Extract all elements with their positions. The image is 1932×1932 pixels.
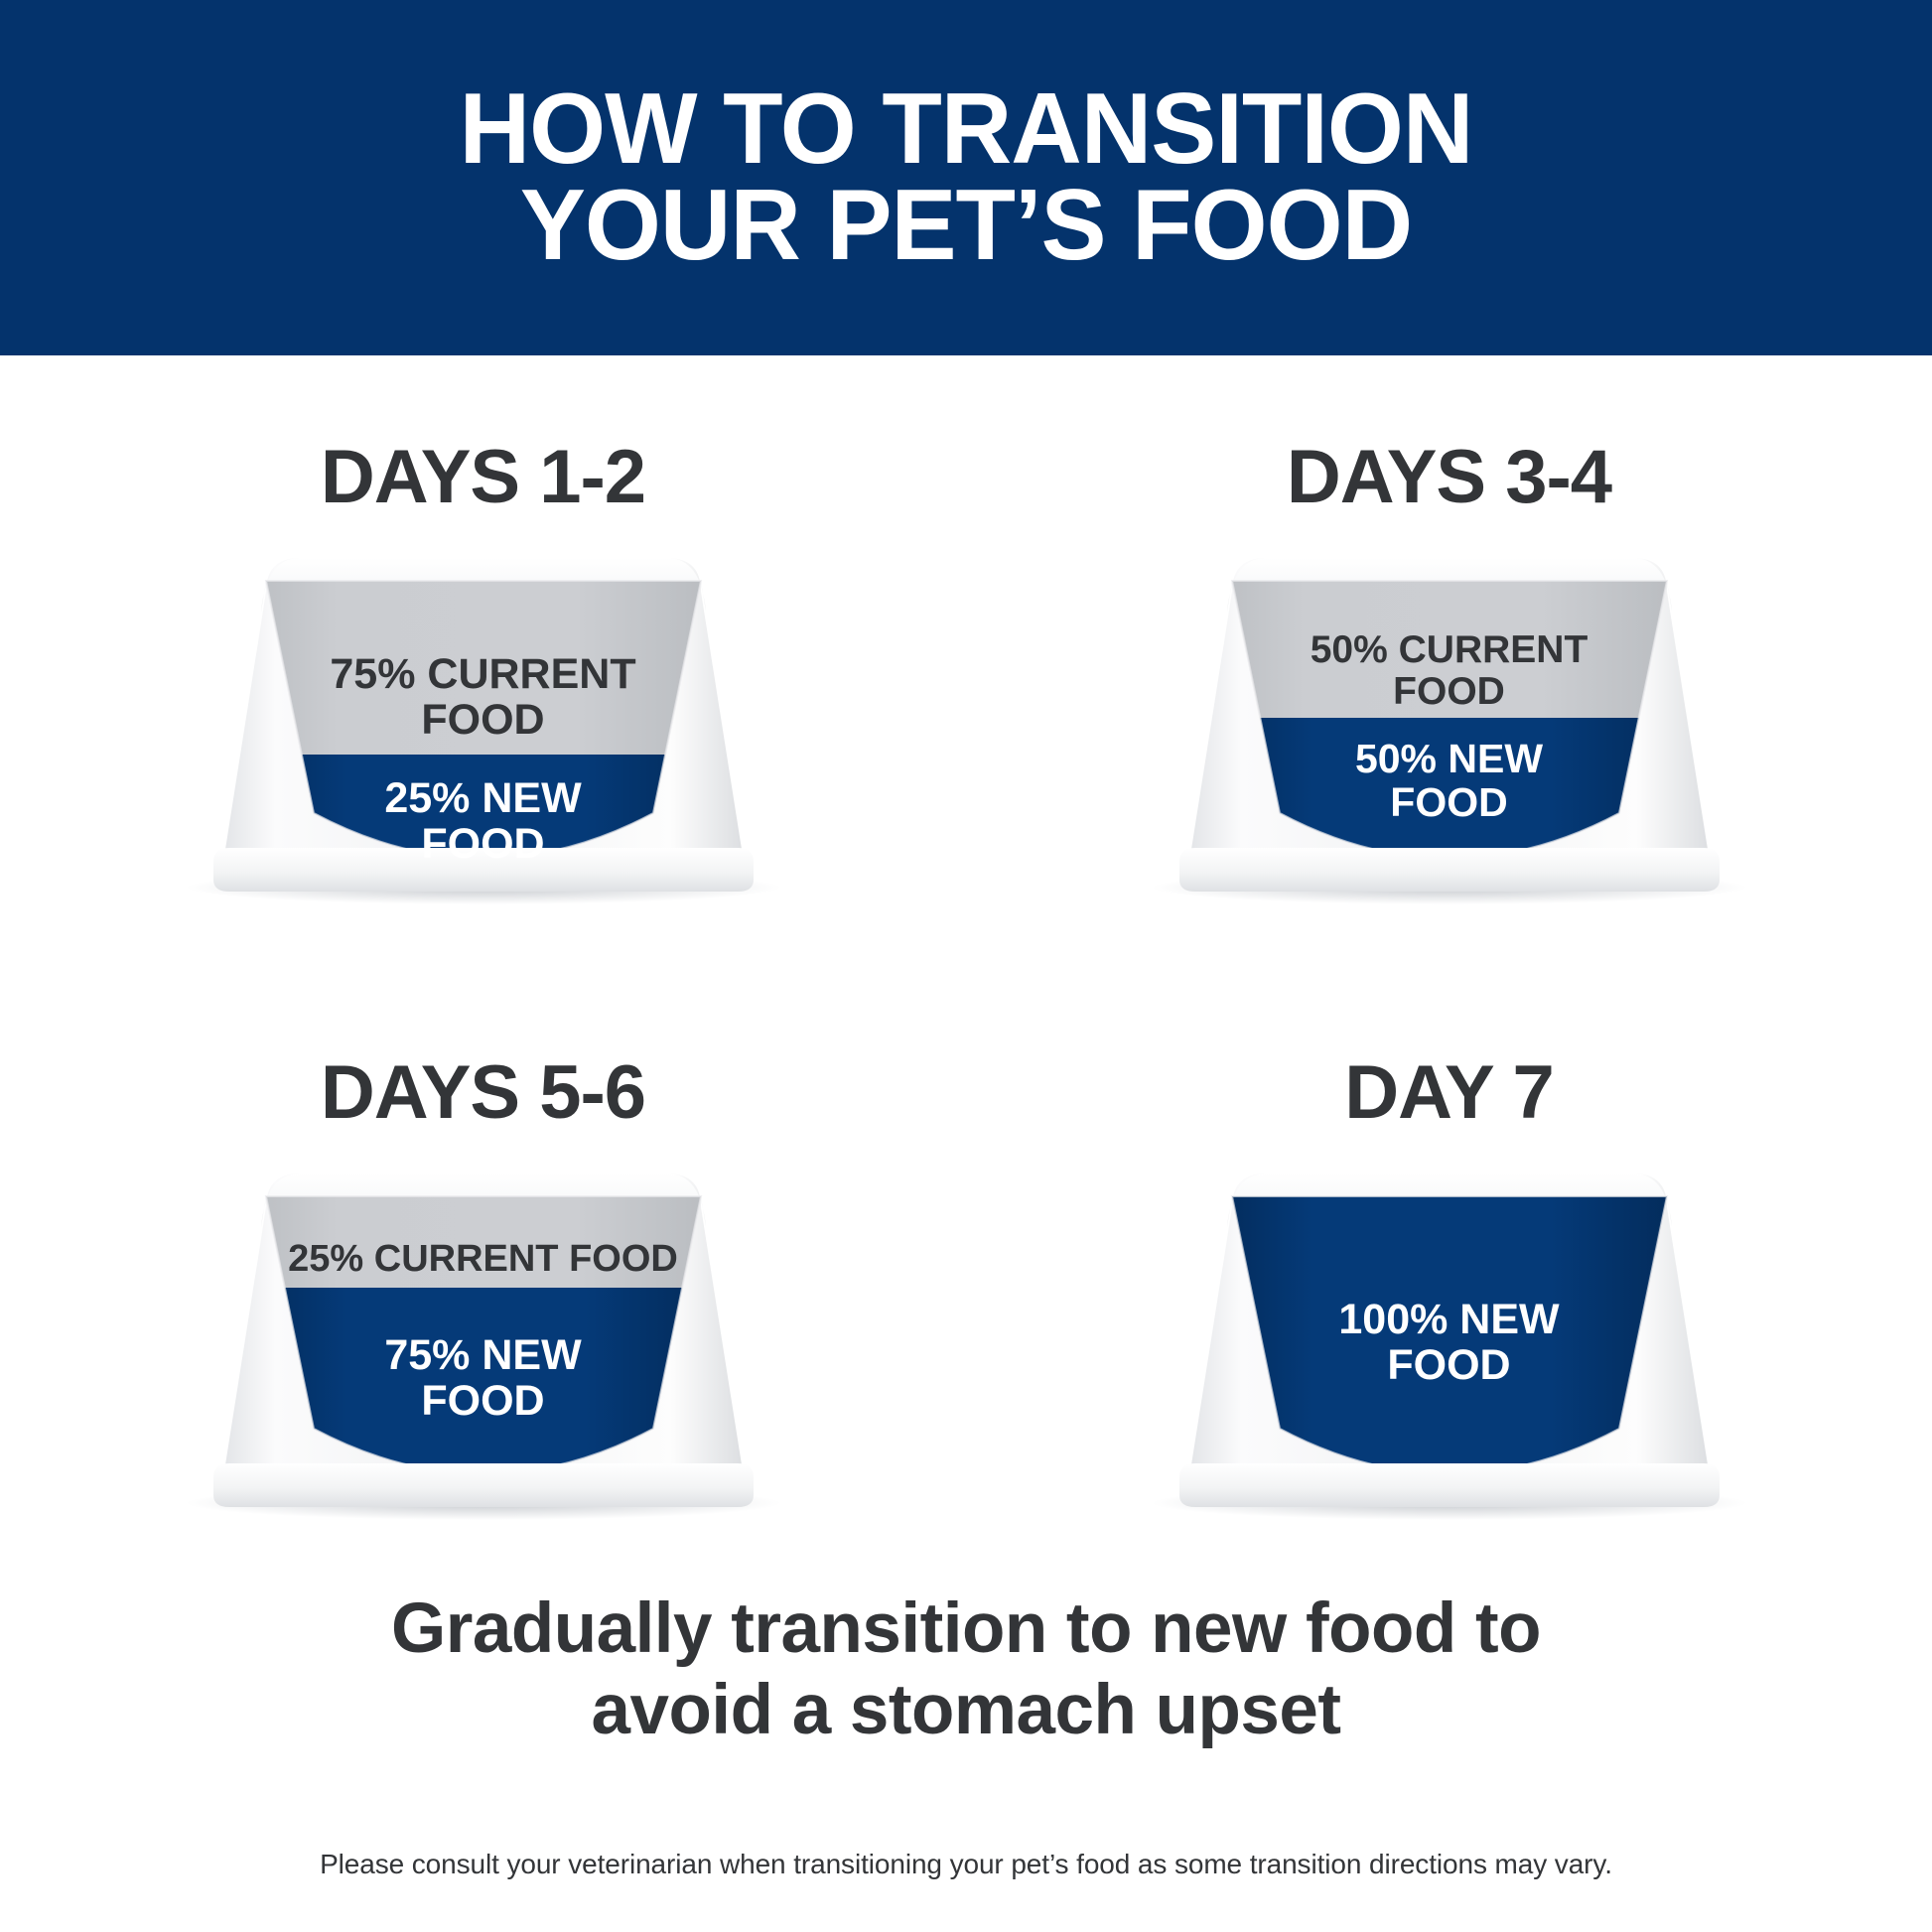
closing-message-line-1: Gradually transition to new food to [0, 1588, 1932, 1670]
stage-card-day-7: DAY 7 [966, 971, 1932, 1587]
bowl-foot [213, 1463, 754, 1507]
stage-heading-days-5-6: DAYS 5-6 [0, 1055, 966, 1131]
stage-card-days-5-6: DAYS 5-6 [0, 971, 966, 1587]
stage-card-days-1-2: DAYS 1-2 [0, 355, 966, 971]
stage-heading-days-1-2: DAYS 1-2 [0, 440, 966, 515]
food-bowl-day-7: 100% NEW FOOD [1102, 1150, 1797, 1527]
bowl-illustration [1102, 1150, 1797, 1527]
bowl-illustration [1102, 534, 1797, 911]
closing-message-line-2: avoid a stomach upset [0, 1670, 1932, 1751]
bowl-foot [1179, 1463, 1720, 1507]
transition-stages-grid: DAYS 1-2 [0, 355, 1932, 1587]
page-title: HOW TO TRANSITION YOUR PET’S FOOD [207, 81, 1725, 274]
bowl-foot [1179, 848, 1720, 892]
bowl-illustration [136, 1150, 831, 1527]
bowl-illustration [136, 534, 831, 911]
disclaimer-text: Please consult your veterinarian when tr… [0, 1849, 1932, 1880]
food-bowl-days-5-6: 25% CURRENT FOOD 75% NEW FOOD [136, 1150, 831, 1527]
stage-heading-days-3-4: DAYS 3-4 [966, 440, 1932, 515]
page-title-line-1: HOW TO TRANSITION [207, 81, 1725, 178]
food-bowl-days-3-4: 50% CURRENT FOOD 50% NEW FOOD [1102, 534, 1797, 911]
header-banner: HOW TO TRANSITION YOUR PET’S FOOD [0, 0, 1932, 355]
page-title-line-2: YOUR PET’S FOOD [207, 178, 1725, 274]
stage-heading-day-7: DAY 7 [966, 1055, 1932, 1131]
food-bowl-days-1-2: 75% CURRENT FOOD 25% NEW FOOD [136, 534, 831, 911]
stage-card-days-3-4: DAYS 3-4 [966, 355, 1932, 971]
bowl-foot [213, 848, 754, 892]
closing-message: Gradually transition to new food to avoi… [0, 1588, 1932, 1752]
